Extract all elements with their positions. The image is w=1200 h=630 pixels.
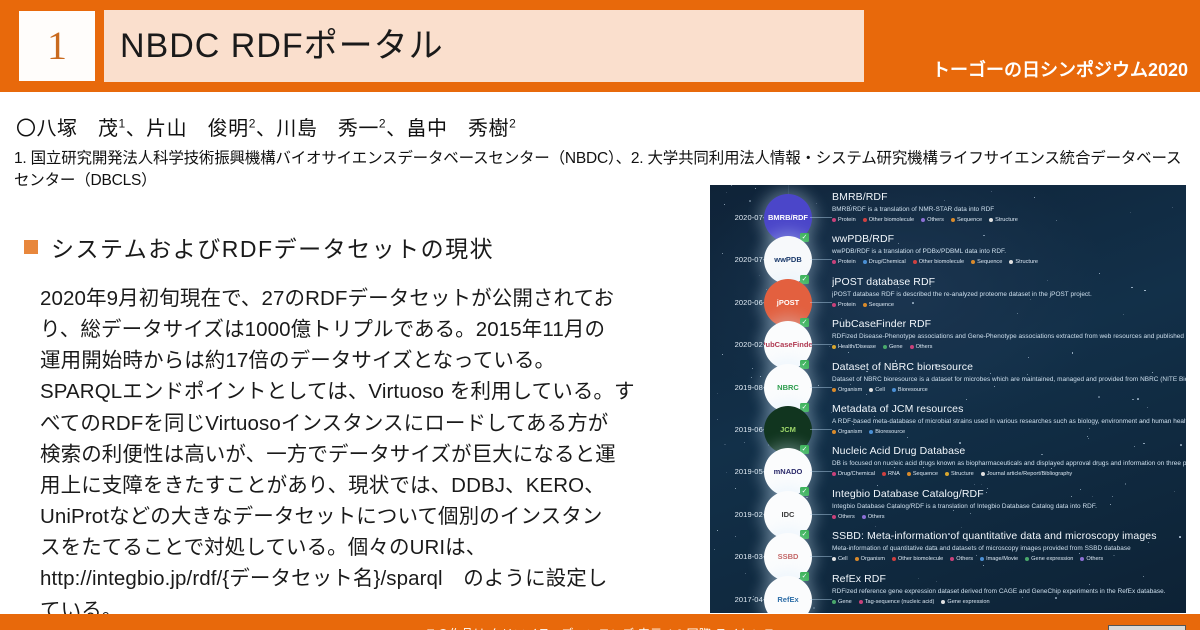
tag-label: Other biomolecule bbox=[919, 259, 964, 265]
body-line: SPARQLエンドポイントとしては、Virtuoso を利用している。す bbox=[40, 376, 695, 407]
entry-tag[interactable]: Sequence bbox=[971, 259, 1002, 265]
star-dot bbox=[848, 352, 849, 353]
entry-tag[interactable]: Drug/Chemical bbox=[863, 259, 906, 265]
entry-tag[interactable]: Other biomolecule bbox=[863, 217, 914, 223]
author-affiliation-marker: 2 bbox=[509, 116, 516, 130]
entry-tag[interactable]: Gene bbox=[883, 344, 903, 350]
tag-dot-icon bbox=[1009, 260, 1013, 264]
entry-logo-text: BMRB/RDF bbox=[766, 212, 810, 224]
body-line: 運用開始時からは約17倍のデータサイズとなっている。 bbox=[40, 345, 695, 376]
entry-title[interactable]: PubCaseFinder RDF bbox=[832, 318, 1186, 330]
star-dot bbox=[759, 275, 760, 276]
entry-logo-text: jPOST bbox=[775, 297, 802, 309]
entry-logo-text: NBRC bbox=[775, 382, 801, 394]
star-dot bbox=[760, 376, 761, 377]
tag-dot-icon bbox=[832, 472, 836, 476]
star-dot bbox=[717, 393, 718, 394]
body-line: 2020年9月初旬現在で、27のRDFデータセットが公開されてお bbox=[40, 283, 695, 314]
tag-label: Sequence bbox=[869, 302, 894, 308]
entry-body: RefEx RDFRDFized reference gene expressi… bbox=[832, 573, 1186, 605]
entry-title[interactable]: Dataset of NBRC bioresource bbox=[832, 361, 1186, 373]
tag-dot-icon bbox=[832, 260, 836, 264]
star-dot bbox=[1017, 313, 1018, 314]
entry-tag[interactable]: Sequence bbox=[863, 302, 894, 308]
tag-dot-icon bbox=[950, 557, 954, 561]
star-dot bbox=[866, 394, 867, 395]
star-dot bbox=[961, 527, 962, 528]
entry-logo-text: SSBD bbox=[776, 551, 801, 563]
star-dot bbox=[959, 442, 961, 444]
entry-connector-line bbox=[810, 556, 832, 557]
star-dot bbox=[1098, 396, 1100, 398]
author-name: 〇八塚 茂 bbox=[16, 118, 119, 140]
square-bullet-icon bbox=[24, 240, 38, 254]
star-dot bbox=[1123, 314, 1124, 315]
star-dot bbox=[749, 200, 751, 202]
body-line: べてのRDFを同じVirtuosoインスタンスにロードしてある方が bbox=[40, 408, 695, 439]
tag-dot-icon bbox=[1025, 557, 1029, 561]
star-dot bbox=[875, 526, 877, 528]
entry-tag[interactable]: Structure bbox=[989, 217, 1018, 223]
star-dot bbox=[1132, 399, 1134, 401]
entry-connector-line bbox=[810, 259, 832, 260]
star-dot bbox=[983, 565, 984, 566]
slide: 1 NBDC RDFポータル トーゴーの日シンポジウム2020 〇八塚 茂1、片… bbox=[0, 0, 1200, 630]
entry-body: Nucleic Acid Drug DatabaseDB is focused … bbox=[832, 445, 1186, 477]
entry-body: BMRB/RDFBMRB/RDF is a translation of NMR… bbox=[832, 191, 1186, 223]
body-line: 検索の利便性は高いが、一方でデータサイズが巨大になると運 bbox=[40, 439, 695, 470]
tag-label: Others bbox=[868, 514, 885, 520]
entry-description: A RDF-based meta-database of microbial s… bbox=[832, 418, 1186, 425]
rdf-timeline-panel: 2020-07-22BMRB/RDF✓BMRB/RDFBMRB/RDF is a… bbox=[710, 185, 1186, 613]
entry-tag[interactable]: Gene bbox=[832, 599, 852, 605]
entry-tag[interactable]: RNA bbox=[882, 471, 900, 477]
tag-label: Others bbox=[956, 556, 973, 562]
star-dot bbox=[714, 549, 715, 550]
tag-dot-icon bbox=[863, 303, 867, 307]
star-dot bbox=[755, 188, 756, 189]
section-heading: システムおよびRDFデータセットの現状 bbox=[24, 230, 494, 264]
tag-label: Gene bbox=[889, 344, 903, 350]
tag-dot-icon bbox=[832, 430, 836, 434]
tag-label: Journal article/Report/Bibliography bbox=[987, 471, 1073, 477]
entry-tag[interactable]: Gene expression bbox=[1025, 556, 1073, 562]
tag-label: Tag-sequence (nucleic acid) bbox=[865, 599, 935, 605]
entry-connector-line bbox=[810, 344, 832, 345]
star-dot bbox=[1087, 436, 1088, 437]
entry-tag[interactable]: Organism bbox=[855, 556, 885, 562]
entry-body: Dataset of NBRC bioresourceDataset of NB… bbox=[832, 361, 1186, 393]
entry-tag-list: Health/DiseaseGeneOthers bbox=[832, 344, 1186, 350]
star-dot bbox=[1143, 443, 1145, 445]
tag-label: Structure bbox=[995, 217, 1018, 223]
entry-tag[interactable]: Cell bbox=[869, 387, 885, 393]
entry-tag[interactable]: Sequence bbox=[951, 217, 982, 223]
entry-tag[interactable]: Journal article/Report/Bibliography bbox=[981, 471, 1073, 477]
author-affiliation-marker: 2 bbox=[379, 116, 386, 130]
entry-body: SSBD: Meta-information of quantitative d… bbox=[832, 530, 1186, 562]
tag-label: Protein bbox=[838, 302, 856, 308]
entry-title[interactable]: Nucleic Acid Drug Database bbox=[832, 445, 1186, 457]
star-dot bbox=[1028, 357, 1029, 358]
star-dot bbox=[829, 346, 830, 347]
author-list: 〇八塚 茂1、片山 俊明2、川島 秀一2、畠中 秀樹2 bbox=[16, 112, 516, 141]
entry-tag[interactable]: Image/Movie bbox=[980, 556, 1018, 562]
entry-tag[interactable]: Gene expression bbox=[941, 599, 989, 605]
tag-dot-icon bbox=[869, 430, 873, 434]
star-dot bbox=[981, 484, 982, 485]
star-dot bbox=[722, 354, 724, 356]
entry-tag[interactable]: Others bbox=[1080, 556, 1103, 562]
entry-tag[interactable]: Protein bbox=[832, 302, 856, 308]
tag-dot-icon bbox=[882, 472, 886, 476]
slide-header: 1 NBDC RDFポータル トーゴーの日シンポジウム2020 bbox=[0, 0, 1200, 92]
entry-logo-text: JCM bbox=[778, 424, 798, 436]
tag-label: Sequence bbox=[957, 217, 982, 223]
entry-tag[interactable]: Other biomolecule bbox=[892, 556, 943, 562]
tag-dot-icon bbox=[883, 345, 887, 349]
entry-body: Integbio Database Catalog/RDFIntegbio Da… bbox=[832, 488, 1186, 520]
tag-dot-icon bbox=[862, 515, 866, 519]
entry-tag[interactable]: Bioresource bbox=[892, 387, 928, 393]
entry-description: wwPDB/RDF is a translation of PDBx/PDBML… bbox=[832, 248, 1186, 255]
author-name: 、川島 秀一 bbox=[256, 118, 379, 140]
entry-tag[interactable]: Bioresource bbox=[869, 429, 905, 435]
tag-dot-icon bbox=[980, 557, 984, 561]
author-affiliation-marker: 1 bbox=[119, 116, 126, 130]
tag-label: Cell bbox=[838, 556, 848, 562]
entry-body: jPOST database RDFjPOST database RDF is … bbox=[832, 276, 1186, 308]
entry-title[interactable]: Metadata of JCM resources bbox=[832, 403, 1186, 415]
entry-tag[interactable]: Organism bbox=[832, 387, 862, 393]
tag-dot-icon bbox=[907, 472, 911, 476]
entry-logo-text: mNADO bbox=[772, 466, 805, 478]
star-dot bbox=[877, 485, 878, 486]
tag-label: Drug/Chemical bbox=[869, 259, 906, 265]
tag-dot-icon bbox=[892, 388, 896, 392]
tag-label: Others bbox=[927, 217, 944, 223]
star-dot bbox=[735, 536, 736, 537]
entry-title[interactable]: RefEx RDF bbox=[832, 573, 1186, 585]
entry-description: jPOST database RDF is described the re-a… bbox=[832, 291, 1186, 298]
tag-label: RNA bbox=[888, 471, 900, 477]
event-label: トーゴーの日シンポジウム2020 bbox=[932, 56, 1188, 82]
tag-label: Others bbox=[916, 344, 933, 350]
star-dot bbox=[1099, 273, 1100, 274]
entry-title[interactable]: Integbio Database Catalog/RDF bbox=[832, 488, 1186, 500]
entry-connector-line bbox=[810, 429, 832, 430]
entry-tag[interactable]: Others bbox=[910, 344, 933, 350]
tag-dot-icon bbox=[869, 388, 873, 392]
tag-dot-icon bbox=[945, 472, 949, 476]
entry-description: BMRB/RDF is a translation of NMR-STAR da… bbox=[832, 206, 1186, 213]
entry-tag[interactable]: Drug/Chemical bbox=[832, 471, 875, 477]
license-text: この作品は クリエイティブ・コモンズ 表示 4.0 国際 ライセンス bbox=[0, 625, 1200, 630]
tag-label: Protein bbox=[838, 217, 856, 223]
tag-label: Others bbox=[1086, 556, 1103, 562]
creative-commons-badge bbox=[1108, 625, 1186, 630]
tag-label: Sequence bbox=[913, 471, 938, 477]
entry-description: DB is focused on nucleic acid drugs know… bbox=[832, 460, 1186, 467]
tag-dot-icon bbox=[855, 557, 859, 561]
star-dot bbox=[974, 484, 975, 485]
tag-label: Organism bbox=[838, 429, 862, 435]
star-dot bbox=[1137, 398, 1139, 400]
entry-description: RDFized reference gene expression datase… bbox=[832, 588, 1186, 595]
star-dot bbox=[724, 204, 726, 206]
entry-connector-line bbox=[810, 302, 832, 303]
entry-tag[interactable]: Other biomolecule bbox=[913, 259, 964, 265]
entry-tag[interactable]: Structure bbox=[1009, 259, 1038, 265]
entry-logo-text: PubCaseFinder bbox=[764, 339, 812, 351]
tag-dot-icon bbox=[832, 515, 836, 519]
tag-dot-icon bbox=[989, 218, 993, 222]
entry-tag-list: OrganismBioresource bbox=[832, 429, 1186, 435]
entry-tag[interactable]: Tag-sequence (nucleic acid) bbox=[859, 599, 935, 605]
entry-title[interactable]: jPOST database RDF bbox=[832, 276, 1186, 288]
tag-dot-icon bbox=[832, 600, 836, 604]
entry-tag-list: ProteinDrug/ChemicalOther biomoleculeSeq… bbox=[832, 259, 1186, 265]
tag-dot-icon bbox=[832, 345, 836, 349]
body-line: http://integbio.jp/rdf/{データセット名}/sparql … bbox=[40, 563, 695, 594]
entry-tag[interactable]: Others bbox=[862, 514, 885, 520]
body-line: り、総データサイズは1000億トリプルである。2015年11月の bbox=[40, 314, 695, 345]
tag-label: Image/Movie bbox=[986, 556, 1018, 562]
body-paragraph: 2020年9月初旬現在で、27のRDFデータセットが公開されており、総データサイ… bbox=[40, 283, 695, 626]
tag-dot-icon bbox=[832, 388, 836, 392]
author-name: 、片山 俊明 bbox=[126, 118, 249, 140]
entry-tag[interactable]: Others bbox=[921, 217, 944, 223]
tag-dot-icon bbox=[941, 600, 945, 604]
entry-logo-text: RefEx bbox=[775, 594, 800, 606]
tag-label: Health/Disease bbox=[838, 344, 876, 350]
entry-tag-list: CellOrganismOther biomoleculeOthersImage… bbox=[832, 556, 1186, 562]
tag-dot-icon bbox=[892, 557, 896, 561]
tag-label: Drug/Chemical bbox=[838, 471, 875, 477]
entry-logo[interactable]: RefEx bbox=[764, 576, 812, 613]
tag-label: Cell bbox=[875, 387, 885, 393]
star-dot bbox=[744, 442, 745, 443]
entry-tag-list: OthersOthers bbox=[832, 514, 1186, 520]
entry-tag[interactable]: Cell bbox=[832, 556, 848, 562]
star-dot bbox=[731, 185, 732, 186]
entry-title[interactable]: SSBD: Meta-information of quantitative d… bbox=[832, 530, 1186, 542]
author-name: 、畠中 秀樹 bbox=[386, 118, 509, 140]
entry-connector-line bbox=[810, 514, 832, 515]
tag-dot-icon bbox=[981, 472, 985, 476]
tag-label: Protein bbox=[838, 259, 856, 265]
star-dot bbox=[813, 607, 815, 609]
entry-body: PubCaseFinder RDFRDFized Disease-Phenoty… bbox=[832, 318, 1186, 350]
tag-dot-icon bbox=[1080, 557, 1084, 561]
entry-body: Metadata of JCM resourcesA RDF-based met… bbox=[832, 403, 1186, 435]
star-dot bbox=[966, 399, 967, 400]
entry-tag-list: Drug/ChemicalRNASequenceStructureJournal… bbox=[832, 471, 1186, 477]
tag-dot-icon bbox=[913, 260, 917, 264]
star-dot bbox=[735, 488, 736, 489]
section-heading-label: システムおよびRDFデータセットの現状 bbox=[51, 230, 494, 264]
body-line: 用上に支障をきたすことがあり、現状では、DDBJ、KERO、 bbox=[40, 470, 695, 501]
tag-label: Bioresource bbox=[898, 387, 928, 393]
entry-tag-list: OrganismCellBioresource bbox=[832, 387, 1186, 393]
entry-body: wwPDB/RDFwwPDB/RDF is a translation of P… bbox=[832, 233, 1186, 265]
slide-number-badge: 1 bbox=[18, 10, 96, 82]
star-dot bbox=[1072, 352, 1074, 354]
star-dot bbox=[816, 203, 817, 204]
tag-label: Other biomolecule bbox=[869, 217, 914, 223]
entry-connector-line bbox=[810, 387, 832, 388]
tag-label: Other biomolecule bbox=[898, 556, 943, 562]
star-dot bbox=[726, 192, 727, 193]
star-dot bbox=[717, 419, 718, 420]
tag-dot-icon bbox=[859, 600, 863, 604]
entry-tag-list: ProteinOther biomoleculeOthersSequenceSt… bbox=[832, 217, 1186, 223]
entry-tag[interactable]: Protein bbox=[832, 259, 856, 265]
star-dot bbox=[717, 530, 718, 531]
tag-dot-icon bbox=[971, 260, 975, 264]
tag-dot-icon bbox=[921, 218, 925, 222]
star-dot bbox=[1125, 483, 1127, 485]
entry-connector-line bbox=[810, 217, 832, 218]
tag-dot-icon bbox=[832, 218, 836, 222]
star-dot bbox=[724, 444, 726, 446]
tag-label: Sequence bbox=[977, 259, 1002, 265]
entry-tag-list: GeneTag-sequence (nucleic acid)Gene expr… bbox=[832, 599, 1186, 605]
entry-tag[interactable]: Organism bbox=[832, 429, 862, 435]
entry-tag-list: ProteinSequence bbox=[832, 302, 1186, 308]
entry-connector-line bbox=[810, 471, 832, 472]
tag-label: Gene bbox=[838, 599, 852, 605]
entry-tag[interactable]: Others bbox=[832, 514, 855, 520]
tag-label: Others bbox=[838, 514, 855, 520]
tag-dot-icon bbox=[863, 218, 867, 222]
entry-tag[interactable]: Protein bbox=[832, 217, 856, 223]
tag-label: Bioresource bbox=[875, 429, 905, 435]
star-dot bbox=[752, 368, 753, 369]
tag-dot-icon bbox=[832, 557, 836, 561]
author-affiliation-marker: 2 bbox=[249, 116, 256, 130]
entry-tag[interactable]: Others bbox=[950, 556, 973, 562]
entry-logo-text: wwPDB bbox=[772, 254, 804, 266]
entry-logo-text: IDC bbox=[780, 509, 797, 521]
panel-right-edge bbox=[1186, 185, 1200, 613]
tag-dot-icon bbox=[863, 260, 867, 264]
tag-label: Gene expression bbox=[1031, 556, 1073, 562]
star-dot bbox=[806, 497, 808, 499]
entry-description: RDFized Disease-Phenotype associations a… bbox=[832, 333, 1186, 340]
tag-dot-icon bbox=[951, 218, 955, 222]
entry-tag[interactable]: Structure bbox=[945, 471, 974, 477]
entry-title[interactable]: BMRB/RDF bbox=[832, 191, 1186, 203]
tag-dot-icon bbox=[910, 345, 914, 349]
entry-description: Meta-information of quantitative data an… bbox=[832, 545, 1186, 552]
star-dot bbox=[1088, 438, 1089, 439]
tag-label: Gene expression bbox=[947, 599, 989, 605]
star-dot bbox=[751, 377, 752, 378]
entry-title[interactable]: wwPDB/RDF bbox=[832, 233, 1186, 245]
tag-label: Organism bbox=[861, 556, 885, 562]
star-dot bbox=[722, 253, 723, 254]
slide-number-text: 1 bbox=[47, 26, 67, 66]
entry-description: Dataset of NBRC bioresource is a dataset… bbox=[832, 376, 1186, 383]
entry-tag[interactable]: Health/Disease bbox=[832, 344, 876, 350]
tag-dot-icon bbox=[832, 303, 836, 307]
page-title: NBDC RDFポータル bbox=[104, 29, 444, 63]
body-line: UniProtなどの大きなデータセットについて個別のインスタン bbox=[40, 501, 695, 532]
tag-label: Organism bbox=[838, 387, 862, 393]
slide-title-band: NBDC RDFポータル bbox=[104, 10, 864, 82]
star-dot bbox=[907, 437, 908, 438]
body-line: スをたてることで対処している。個々のURIは、 bbox=[40, 532, 695, 563]
star-dot bbox=[745, 573, 746, 574]
entry-description: Integbio Database Catalog/RDF is a trans… bbox=[832, 503, 1186, 510]
tag-label: Structure bbox=[1015, 259, 1038, 265]
tag-label: Structure bbox=[951, 471, 974, 477]
entry-connector-line bbox=[810, 599, 832, 600]
entry-tag[interactable]: Sequence bbox=[907, 471, 938, 477]
